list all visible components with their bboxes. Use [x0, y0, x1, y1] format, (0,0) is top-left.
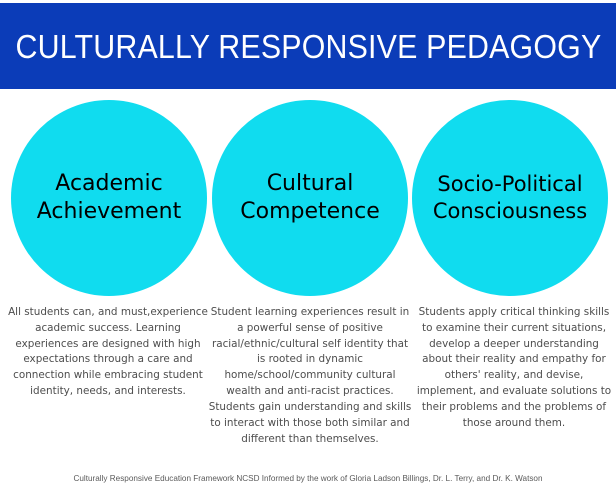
pillar-description-cultural-competence: Student learning experiences result in a…	[208, 305, 412, 447]
pillar-circle-label: Socio-Political Consciousness	[427, 171, 593, 225]
footer-credit-line: Culturally Responsive Education Framewor…	[15, 473, 600, 484]
page-title: CULTURALLY RESPONSIVE PEDAGOGY	[15, 30, 601, 63]
pillar-description-socio-political-consciousness: Students apply critical thinking skills …	[414, 305, 614, 432]
pillar-descriptions-row: All students can, and must,experience ac…	[0, 305, 616, 470]
pillar-circle-cultural-competence: Cultural Competence	[212, 100, 408, 296]
header-banner: CULTURALLY RESPONSIVE PEDAGOGY	[0, 3, 616, 89]
pillar-circle-academic-achievement: Academic Achievement	[11, 100, 207, 296]
poster-canvas: CULTURALLY RESPONSIVE PEDAGOGY Academic …	[0, 0, 616, 491]
pillar-circle-socio-political-consciousness: Socio-Political Consciousness	[412, 100, 608, 296]
pillar-circle-label: Academic Achievement	[31, 170, 187, 226]
pillar-circle-label: Cultural Competence	[234, 170, 386, 226]
pillar-circles-row: Academic Achievement Cultural Competence…	[0, 100, 616, 296]
pillar-description-academic-achievement: All students can, and must,experience ac…	[8, 305, 208, 400]
